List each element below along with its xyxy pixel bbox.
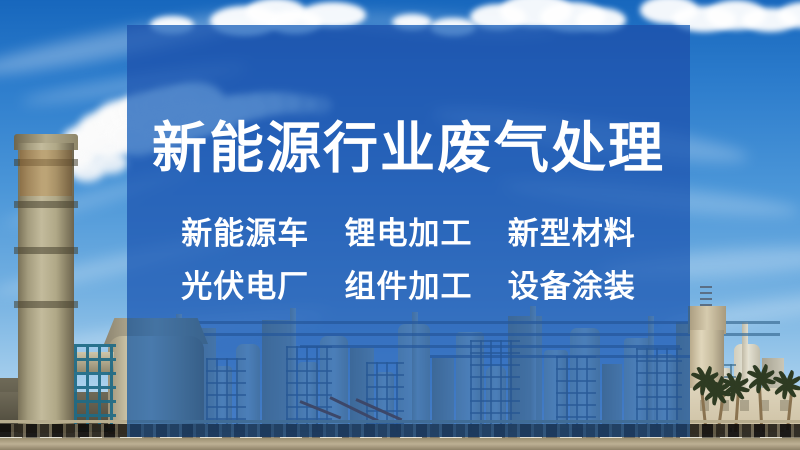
water: [0, 438, 800, 450]
subtitle-2-item-3: 设备涂装: [508, 269, 636, 304]
banner-subtitle-line-1: 新能源车 锂电加工 新型材料: [181, 218, 636, 249]
banner-subtitle-line-2: 光伏电厂 组件加工 设备涂装: [181, 271, 636, 302]
subtitle-1-item-1: 新能源车: [181, 216, 309, 251]
subtitle-2-item-1: 光伏电厂: [181, 269, 309, 304]
hero-banner: 新能源行业废气处理 新能源车 锂电加工 新型材料 光伏电厂 组件加工 设备涂装: [0, 0, 800, 450]
subtitle-2-item-2: 组件加工: [345, 269, 473, 304]
smokestack-rust: [20, 150, 72, 196]
subtitle-1-item-3: 新型材料: [508, 216, 636, 251]
banner-text-block: 新能源行业废气处理 新能源车 锂电加工 新型材料 光伏电厂 组件加工 设备涂装: [127, 25, 690, 437]
banner-title: 新能源行业废气处理: [152, 121, 665, 176]
subtitle-1-item-2: 锂电加工: [345, 216, 473, 251]
